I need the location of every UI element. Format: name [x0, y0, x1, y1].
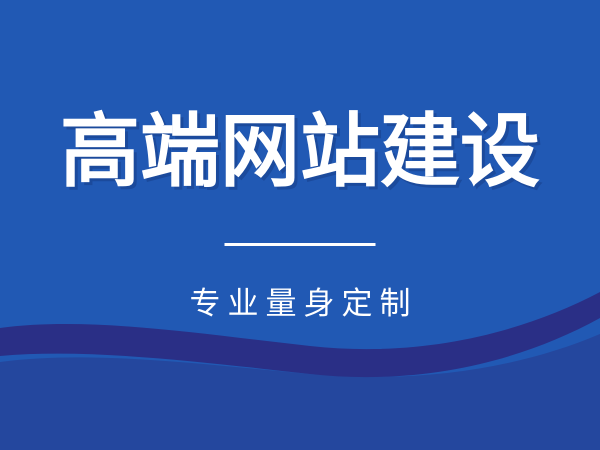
- promo-banner: 高端网站建设 专业量身定制: [0, 0, 600, 450]
- divider-rule: [225, 243, 376, 246]
- banner-headline: 高端网站建设: [0, 112, 600, 192]
- banner-subheadline: 专业量身定制: [0, 287, 600, 321]
- banner-content: 高端网站建设 专业量身定制: [0, 0, 600, 450]
